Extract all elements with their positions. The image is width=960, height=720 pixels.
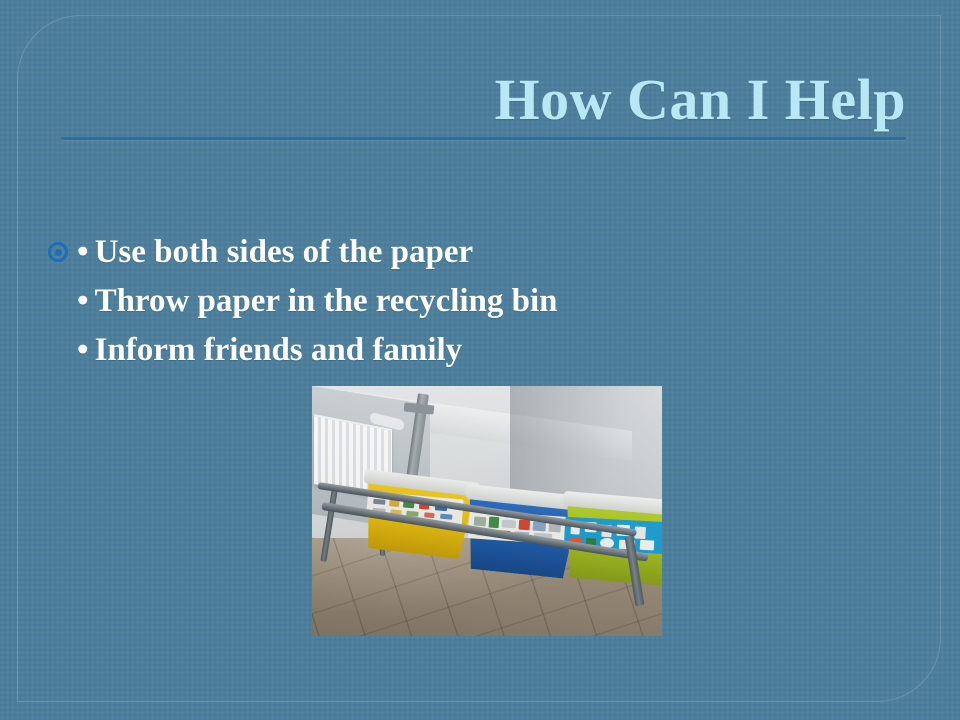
recycling-bins-photo — [312, 386, 662, 636]
list-item: •Use both sides of the paper — [77, 228, 908, 277]
page-title: How Can I Help — [61, 70, 906, 131]
target-bullet-icon — [48, 242, 68, 262]
bullet-list: •Use both sides of the paper •Throw pape… — [77, 228, 908, 375]
list-item: •Throw paper in the recycling bin — [77, 277, 908, 326]
bullet-point-icon: • — [77, 234, 89, 270]
list-item-label: Use both sides of the paper — [95, 234, 474, 270]
title-divider — [61, 137, 906, 140]
list-item: •Inform friends and family — [77, 326, 908, 375]
presentation-slide: How Can I Help •Use both sides of the pa… — [0, 0, 960, 720]
list-item-label: Throw paper in the recycling bin — [95, 283, 558, 319]
bullet-point-icon: • — [77, 332, 89, 368]
list-item-label: Inform friends and family — [95, 332, 463, 368]
bullet-point-icon: • — [77, 283, 89, 319]
title-block: How Can I Help — [61, 70, 906, 140]
body-content: •Use both sides of the paper •Throw pape… — [48, 228, 908, 375]
